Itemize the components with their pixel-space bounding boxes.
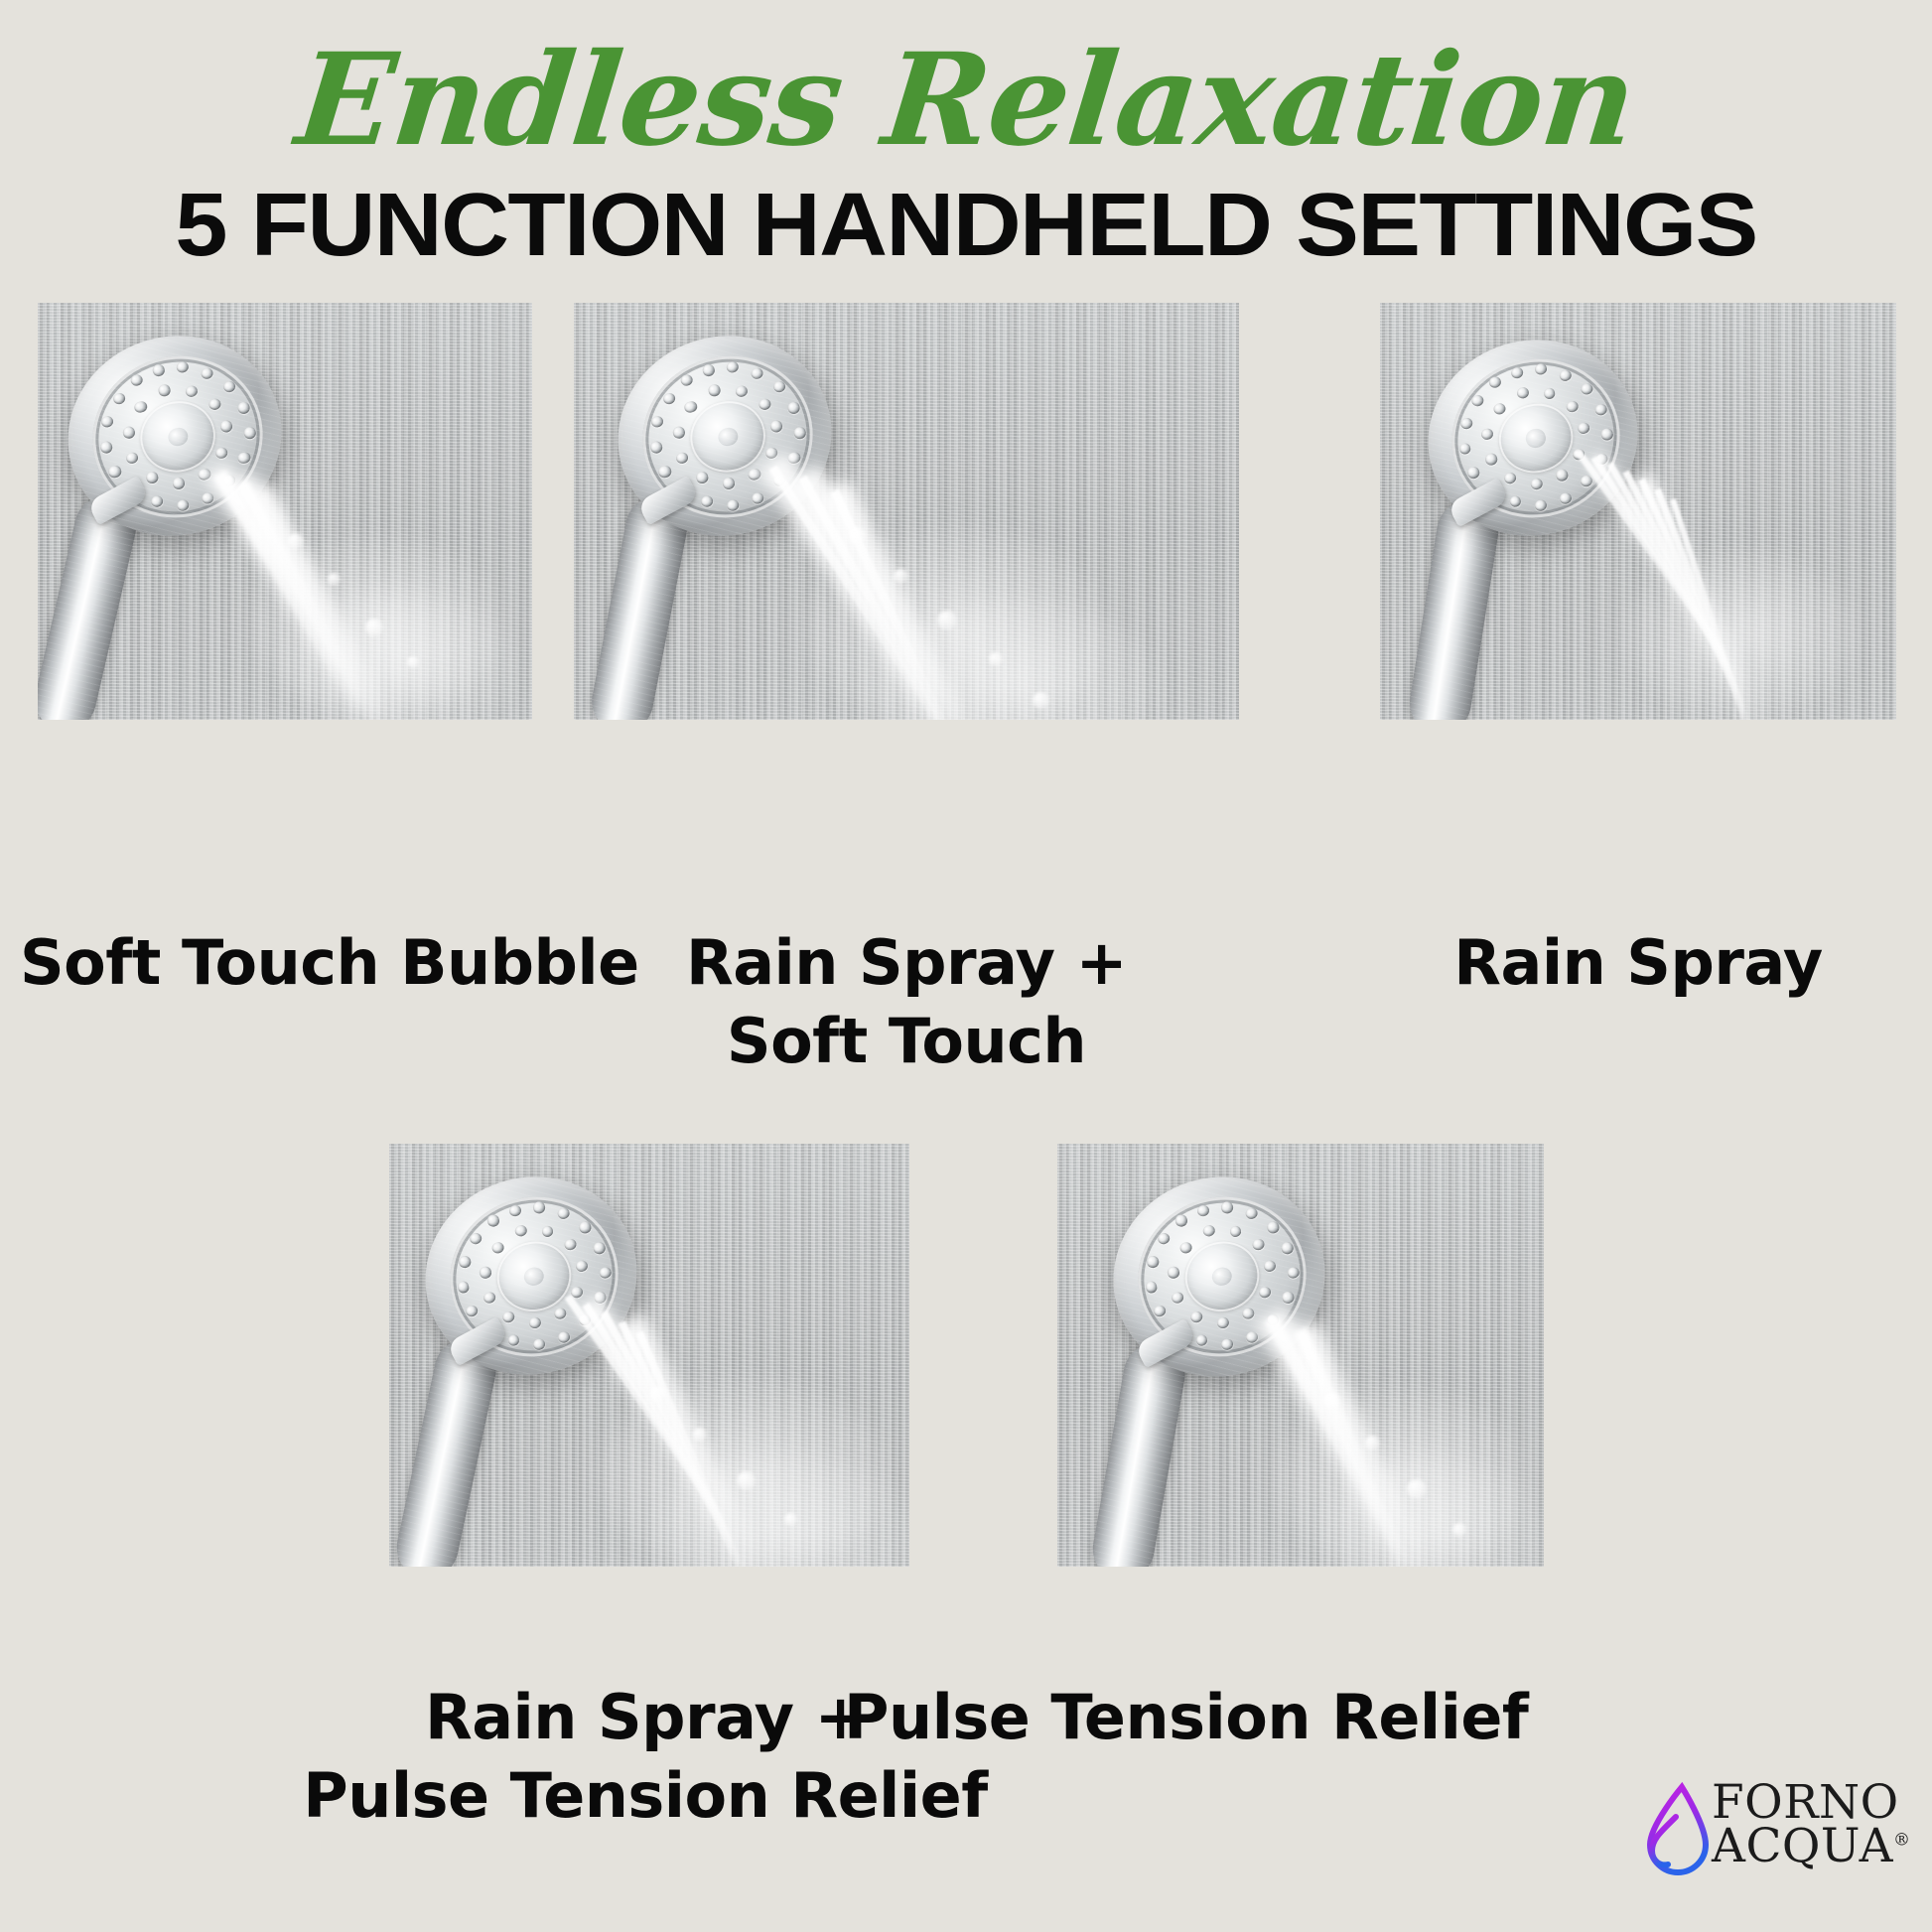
caption-rain-spray-plus-soft-touch: Rain Spray + Soft Touch	[574, 923, 1239, 1081]
shower-head-rain-spray-plus-pulse-tension-relief	[389, 1144, 909, 1567]
shower-head-rain-spray	[1380, 303, 1896, 720]
caption-soft-touch-bubble: Soft Touch Bubble	[20, 923, 552, 1002]
brand-logo: FORNO ACQUA®	[1636, 1779, 1926, 1882]
page-title: 5 FUNCTION HANDHELD SETTINGS	[0, 181, 1932, 270]
hub-center	[522, 1266, 546, 1289]
hub-center	[166, 425, 190, 448]
setting-tile-rain-spray	[1380, 303, 1896, 720]
caption-rain-spray: Rain Spray	[1380, 923, 1896, 1002]
brand-wordmark: FORNO ACQUA®	[1712, 1781, 1911, 1868]
shower-head-soft-touch-bubble	[38, 303, 532, 720]
caption-pulse-tension-relief: Pulse Tension Relief	[844, 1678, 1499, 1756]
registered-trademark-mark: ®	[1893, 1831, 1911, 1851]
hub-center	[1524, 427, 1548, 450]
setting-tile-rain-spray-plus-soft-touch	[574, 303, 1239, 720]
shower-head-pulse-tension-relief	[1057, 1144, 1544, 1567]
shower-handle	[1088, 1339, 1190, 1567]
brand-name-line2: ACQUA®	[1712, 1825, 1911, 1868]
setting-tile-rain-spray-plus-pulse-tension-relief	[389, 1144, 909, 1567]
setting-tile-pulse-tension-relief	[1057, 1144, 1544, 1567]
hub-center	[716, 425, 740, 448]
water-droplet-icon	[1636, 1781, 1714, 1876]
script-title: Endless Relaxation	[0, 34, 1932, 167]
setting-tile-soft-touch-bubble	[38, 303, 532, 720]
hub-center	[1210, 1266, 1234, 1289]
shower-head-rain-spray-plus-soft-touch	[574, 303, 1239, 720]
infographic-page: Endless Relaxation 5 FUNCTION HANDHELD S…	[0, 0, 1932, 1932]
